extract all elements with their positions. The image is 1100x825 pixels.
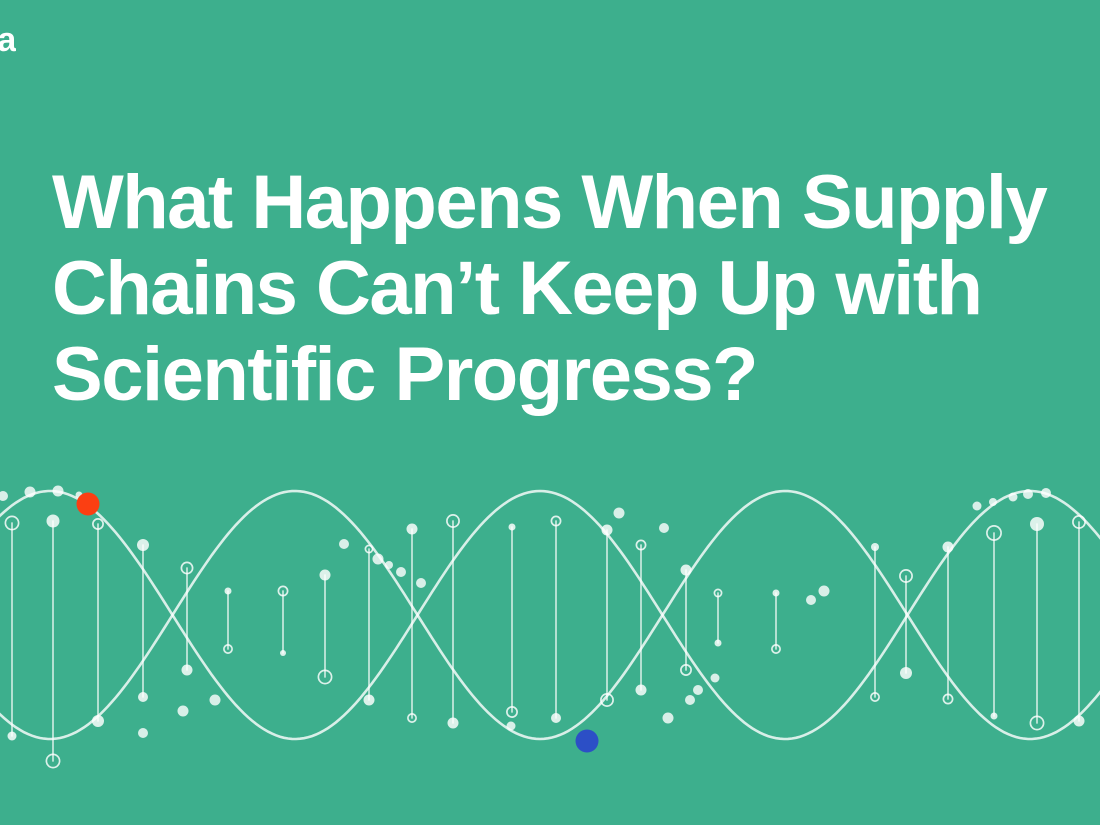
helix-bead-8 (373, 554, 384, 565)
helix-rung-9-bottom-node (408, 714, 416, 722)
headline-line-2: Chains Can’t Keep Up with (52, 246, 1100, 332)
helix-rung-5-bottom-node (224, 645, 232, 653)
helix-bead-20 (819, 586, 830, 597)
helix-bead-17 (693, 685, 703, 695)
helix-rung-6-top-node (278, 586, 287, 595)
helix-rung-12-bottom-node (551, 713, 561, 723)
helix-bead-14 (659, 523, 669, 533)
helix-rung-23-bottom-node (1074, 716, 1085, 727)
helix-rung-16-top-node (714, 589, 721, 596)
helix-bead-15 (663, 713, 674, 724)
helix-rung-3-bottom-node (138, 692, 148, 702)
helix-rung-10-top-node (447, 515, 459, 527)
helix-rung-18-top-node (871, 543, 879, 551)
helix-strands (0, 491, 1100, 739)
helix-rung-13-bottom-node (601, 694, 613, 706)
helix-rung-19-bottom-node (900, 667, 912, 679)
brand-logo[interactable]: iva (0, 22, 16, 58)
helix-rung-1-bottom-node (46, 754, 59, 767)
helix-rung-21-bottom-node (991, 713, 998, 720)
helix-bead-9 (385, 561, 393, 569)
helix-rung-13-top-node (602, 525, 613, 536)
helix-rung-14-bottom-node (636, 685, 647, 696)
helix-rung-7-bottom-node (318, 670, 331, 683)
helix-rung-3-top-node (137, 539, 149, 551)
helix-rung-8-bottom-node (364, 695, 375, 706)
helix-rung-11-top-node (509, 524, 516, 531)
helix-rung-0-top-node (5, 516, 18, 529)
helix-bead-3 (76, 492, 83, 499)
helix-bead-5 (178, 706, 189, 717)
helix-rung-22-top-node (1030, 517, 1044, 531)
helix-bead-1 (25, 487, 36, 498)
page-title: What Happens When Supply Chains Can’t Ke… (52, 160, 1100, 418)
helix-strand-beads (0, 486, 1051, 739)
helix-rung-4-bottom-node (182, 665, 193, 676)
helix-rung-17-bottom-node (772, 645, 780, 653)
helix-rung-15-top-node (681, 565, 692, 576)
blue-node (576, 730, 599, 753)
helix-rung-12-top-node (551, 516, 560, 525)
helix-rung-5-top-node (225, 588, 232, 595)
helix-rung-23-top-node (1073, 516, 1085, 528)
helix-rung-17-top-node (773, 590, 780, 597)
helix-rung-19-top-node (900, 570, 912, 582)
brand-logo-text: iva (0, 23, 16, 57)
helix-bead-16 (685, 695, 695, 705)
helix-rung-10-bottom-node (448, 718, 459, 729)
helix-bead-4 (138, 728, 148, 738)
helix-rung-21-top-node (987, 526, 1001, 540)
helix-bead-2 (53, 486, 64, 497)
helix-bead-13 (614, 508, 625, 519)
helix-bead-10 (396, 567, 406, 577)
helix-rung-1-top-node (47, 515, 60, 528)
helix-bead-21 (973, 502, 982, 511)
headline-line-1: What Happens When Supply (52, 160, 1100, 246)
orange-node (77, 493, 100, 516)
helix-rung-11-bottom-node (507, 707, 517, 717)
helix-rung-6-bottom-node (280, 650, 286, 656)
helix-bead-24 (1023, 489, 1033, 499)
helix-bead-12 (507, 722, 516, 731)
helix-rung-14-top-node (636, 540, 645, 549)
helix-highlight-nodes (77, 493, 599, 753)
hero-banner: iva What Happens When Supply Chains Can’… (0, 0, 1100, 825)
helix-strand-lower (0, 491, 1100, 739)
helix-rung-15-bottom-node (681, 665, 691, 675)
helix-rung-18-bottom-node (871, 693, 879, 701)
helix-rung-4-top-node (181, 562, 192, 573)
helix-bead-19 (806, 595, 816, 605)
helix-bead-7 (339, 539, 349, 549)
helix-bead-11 (416, 578, 426, 588)
helix-strand-upper (0, 491, 1100, 739)
helix-bead-22 (989, 498, 997, 506)
helix-rung-8-top-node (365, 545, 372, 552)
helix-rung-7-top-node (320, 570, 331, 581)
helix-rung-16-bottom-node (715, 640, 722, 647)
helix-rung-9-top-node (407, 524, 418, 535)
helix-rung-20-top-node (943, 542, 954, 553)
helix-bead-6 (210, 695, 221, 706)
headline-line-3: Scientific Progress? (52, 332, 1100, 418)
helix-rung-2-top-node (93, 519, 103, 529)
helix-bead-0 (0, 491, 8, 501)
helix-rung-22-bottom-node (1030, 716, 1043, 729)
helix-bead-18 (711, 674, 720, 683)
helix-rung-0-bottom-node (8, 732, 17, 741)
helix-rung-20-bottom-node (943, 694, 952, 703)
helix-rungs (5, 515, 1085, 768)
helix-bead-23 (1009, 493, 1018, 502)
helix-rung-2-bottom-node (92, 715, 104, 727)
helix-bead-25 (1041, 488, 1051, 498)
